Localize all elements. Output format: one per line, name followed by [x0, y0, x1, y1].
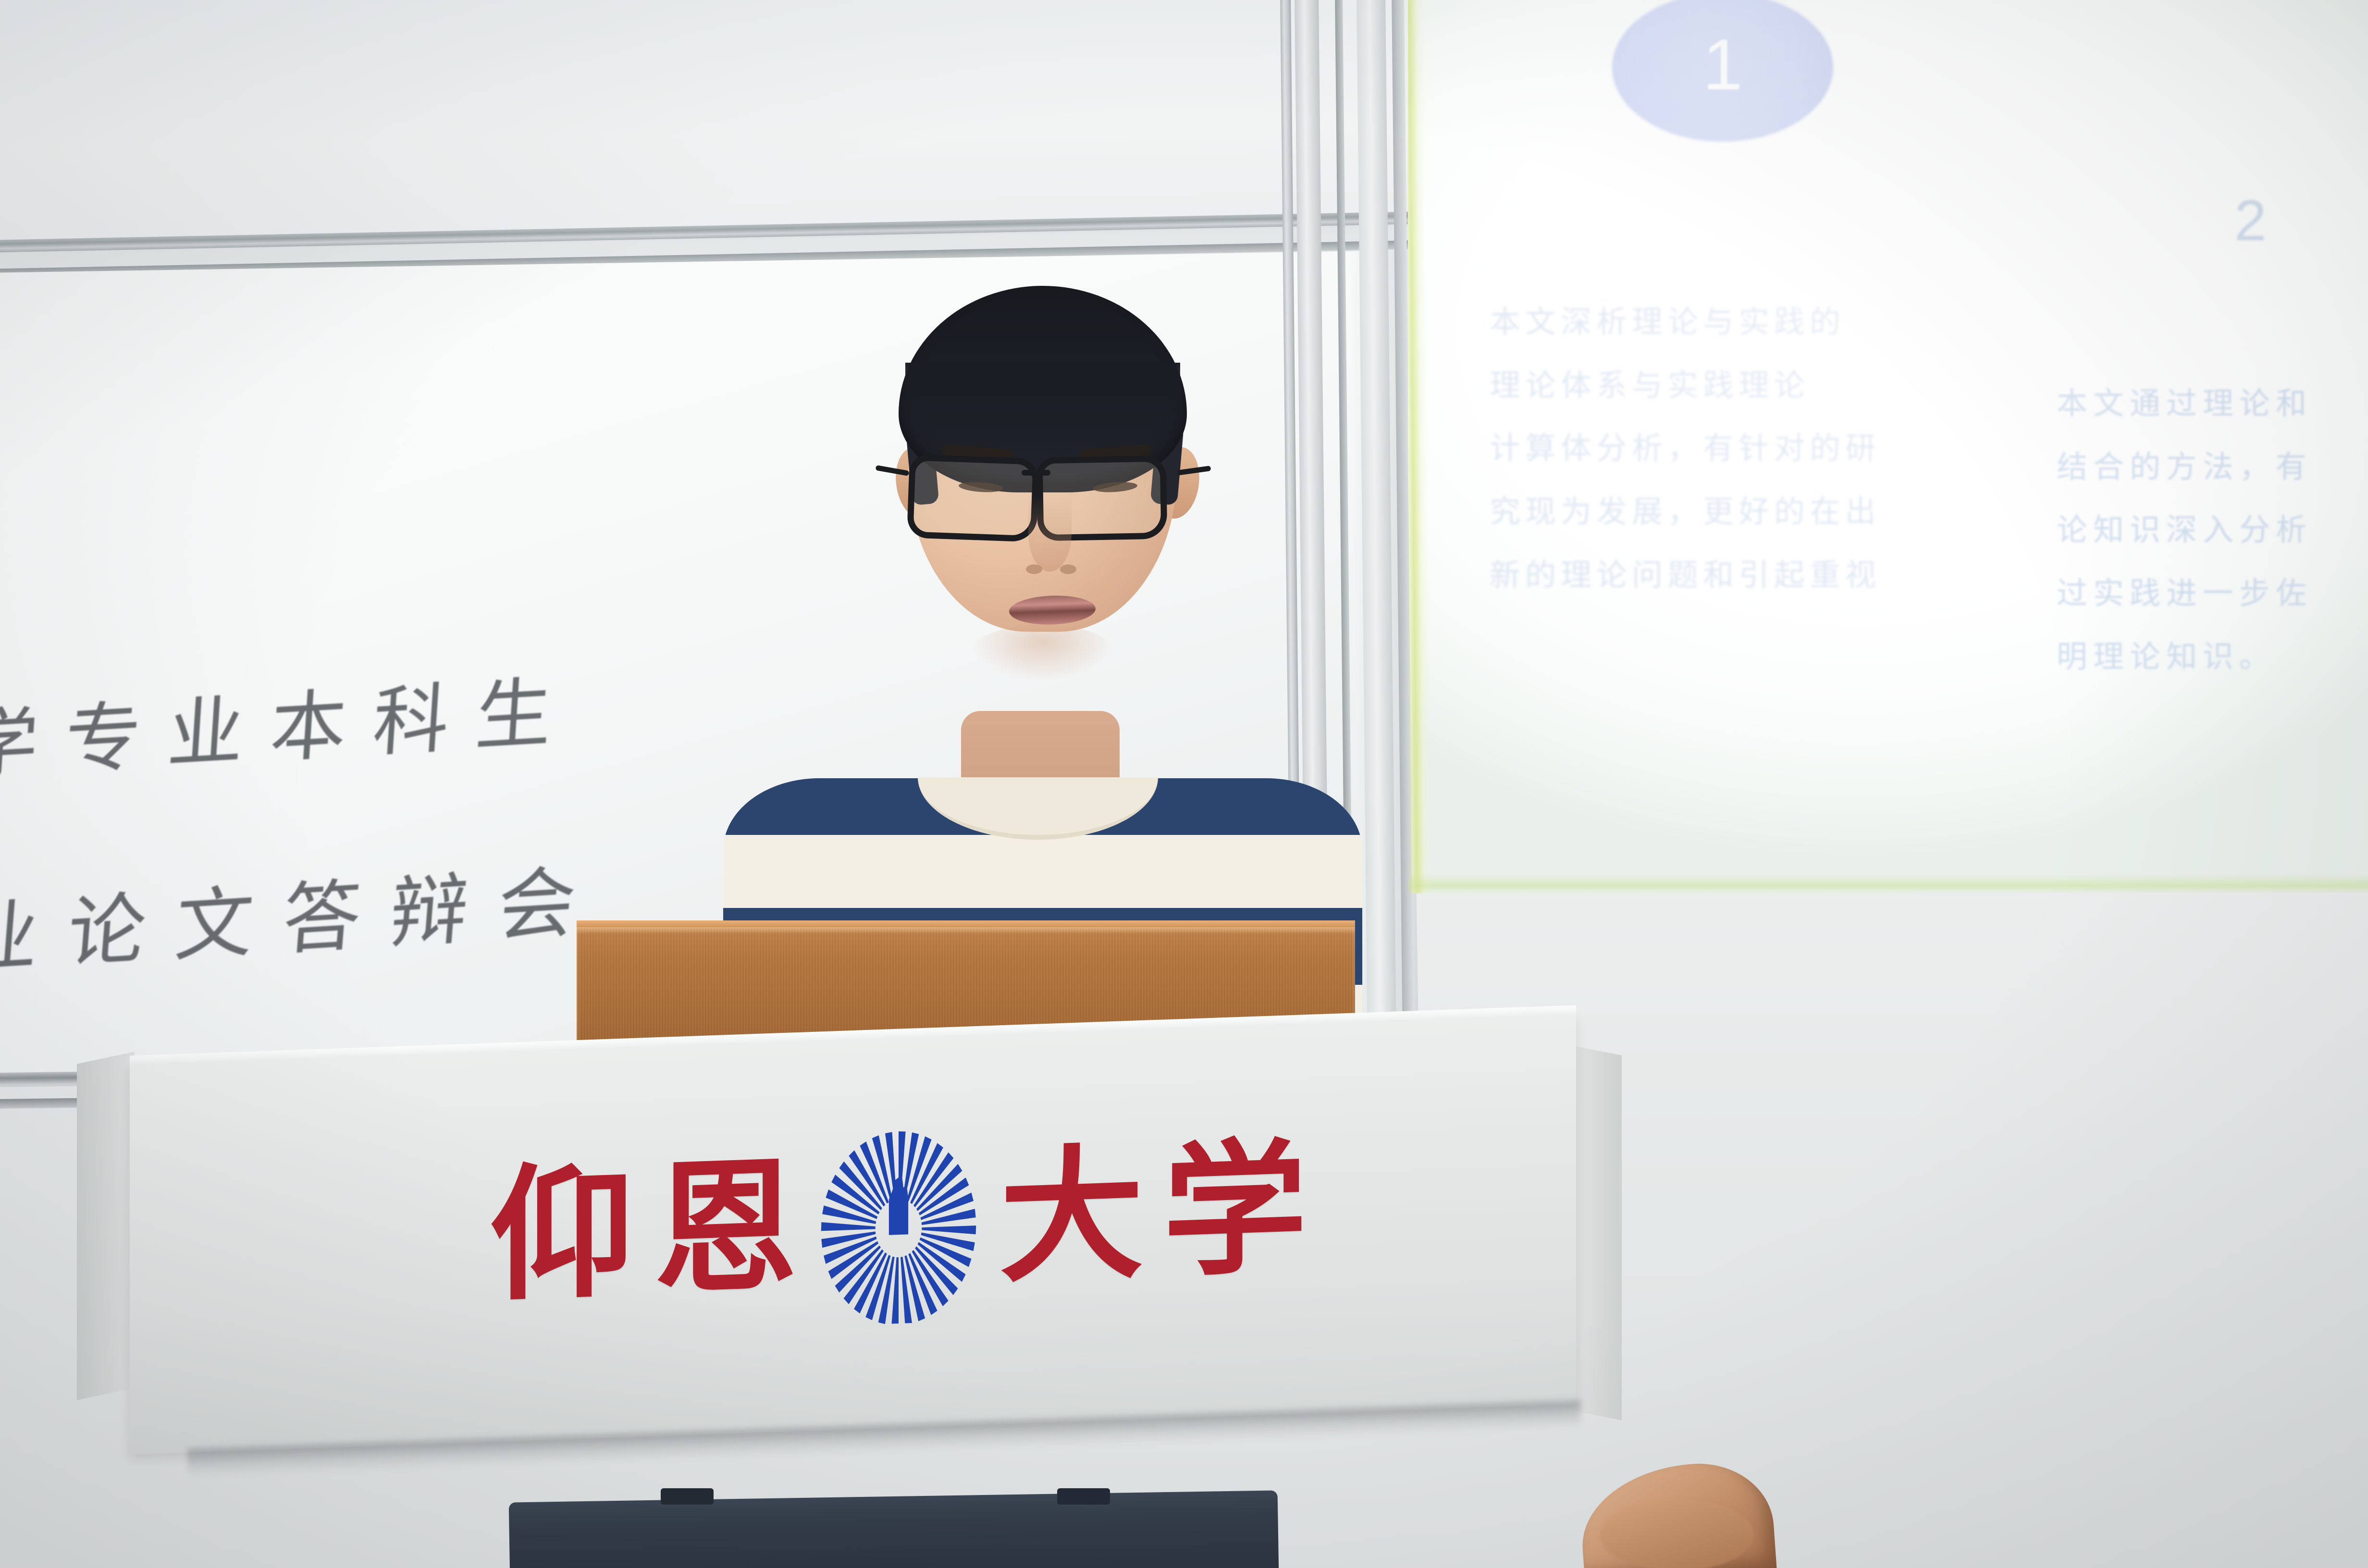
slide-line: 结合的方法，有	[2057, 443, 2312, 493]
glasses-lens-left	[907, 454, 1039, 542]
slide-bullet-number-wrap: 1	[1612, 0, 1833, 142]
brand-char-3: 大	[999, 1142, 1144, 1291]
sunburst-ray	[900, 1256, 912, 1324]
podium-branding: 仰 恩 大 学	[384, 1104, 1413, 1342]
lectern-podium: 仰 恩 大 学	[130, 927, 1812, 1568]
presenter-chin	[971, 625, 1115, 682]
presenter-nose	[1028, 495, 1072, 572]
slide-text-column-left: 本文深析理论与实践的 理论体系与实践理论 计算体分析，有针对的研 究现为发展，更…	[1490, 298, 1881, 614]
slide-line: 论知识深入分析	[2057, 506, 2312, 556]
slide-line: 新的理论问题和引起重视	[1490, 551, 1881, 601]
presenter-nostril-right	[1060, 564, 1076, 574]
presenter-nostril-left	[1026, 564, 1042, 574]
projection-edge-glow-bottom	[1408, 874, 2368, 894]
slide-text-column-right: 本文通过理论和 结合的方法，有 论知识深入分析 过实践进一步佐 明理论知识。	[2057, 380, 2312, 696]
slide-line: 本文深析理论与实践的	[1490, 298, 1881, 348]
sunburst-logo-svg	[817, 1119, 980, 1326]
university-sunburst-logo-icon	[817, 1119, 980, 1326]
slide-line: 过实践进一步佐	[2057, 569, 2312, 619]
whiteboard-handwriting-line-1: 学专业本科生	[0, 649, 582, 795]
slide-bullet-number: 1	[1702, 23, 1742, 106]
audience-chair-back	[509, 1490, 1279, 1568]
brand-char-2: 恩	[654, 1154, 798, 1303]
podium-left-side	[77, 1052, 135, 1400]
brand-char-1: 仰	[490, 1160, 634, 1309]
shirt-stripe	[723, 835, 1362, 908]
slide-line: 明理论知识。	[2057, 633, 2312, 683]
audience-chair-bracket-left	[661, 1488, 714, 1505]
slide-line: 理论体系与实践理论	[1490, 361, 1881, 411]
slide-line: 究现为发展，更好的在出	[1490, 488, 1881, 538]
glasses-bridge	[1022, 470, 1050, 476]
slide-bullet-number-secondary: 2	[2234, 187, 2267, 254]
lecture-room-photo: 学专业本科生 业论文答辩会 1 2 本文深析理论与实践的 理论体系与实践理论 计…	[0, 0, 2368, 1568]
audience-chair-bracket-right	[1057, 1488, 1110, 1505]
brand-char-4: 学	[1163, 1136, 1307, 1285]
leather-chair-seat	[1600, 1499, 1754, 1568]
slide-line: 计算体分析，有针对的研	[1490, 424, 1881, 474]
whiteboard-upper-panel	[0, 0, 1415, 249]
glasses-temple-left	[876, 465, 910, 476]
slide-line: 本文通过理论和	[2057, 380, 2312, 429]
